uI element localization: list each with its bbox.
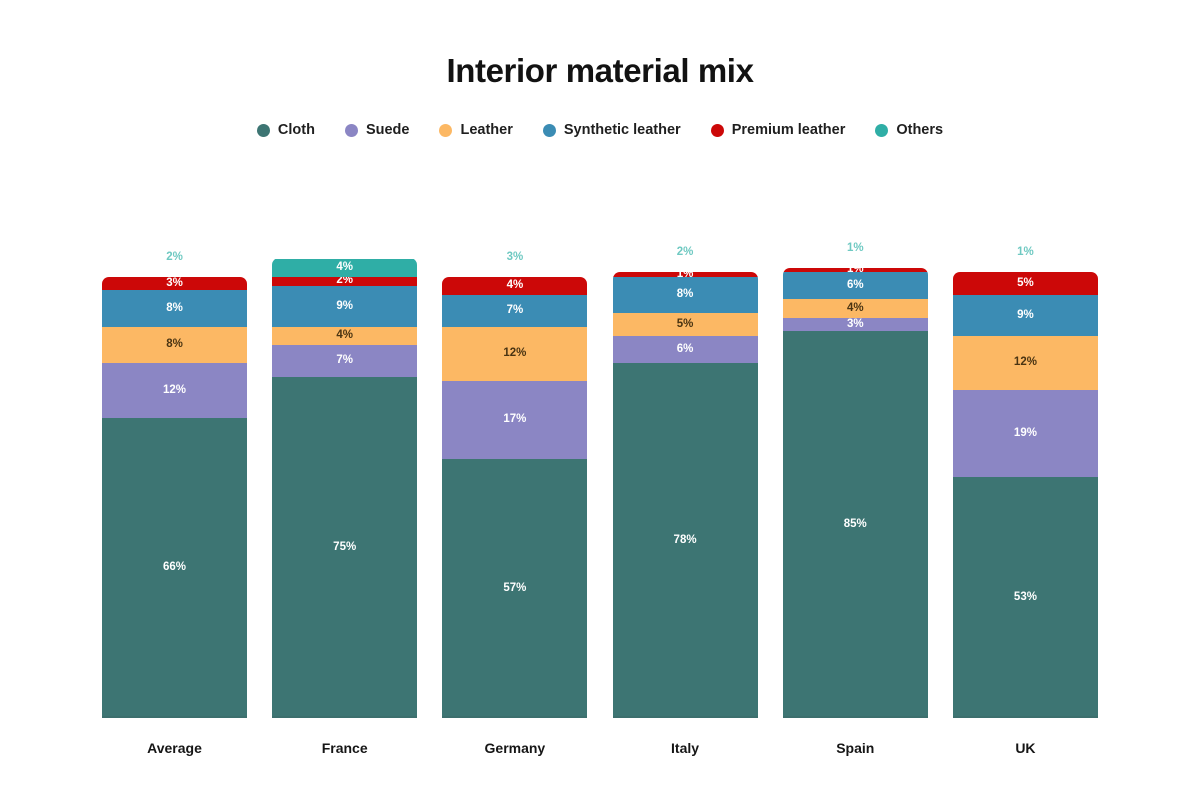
bar-segment-premium-leather[interactable]: 3% <box>102 277 247 291</box>
legend-dot-icon <box>439 124 452 137</box>
x-axis-tick-label: Germany <box>442 740 587 756</box>
stacked-bar: 5%9%12%19%53% <box>953 272 1098 718</box>
bar-segment-label: 12% <box>503 348 526 360</box>
bar-segment-suede[interactable]: 3% <box>783 318 928 332</box>
bar-segment-label: 12% <box>163 385 186 397</box>
bar-segment-cloth[interactable]: 85% <box>783 331 928 718</box>
legend-item-suede[interactable]: Suede <box>345 122 410 138</box>
bar-groups: 2%3%8%8%12%66%Average4%2%9%4%7%75%France… <box>102 152 1098 718</box>
x-axis-tick-label: Average <box>102 740 247 756</box>
bar-segment-leather[interactable]: 8% <box>102 327 247 363</box>
bar-segment-label: 1% <box>783 242 928 254</box>
bar-segment-label: 5% <box>677 319 694 331</box>
legend-item-label: Leather <box>460 122 512 138</box>
legend-item-others[interactable]: Others <box>875 122 943 138</box>
legend-item-cloth[interactable]: Cloth <box>257 122 315 138</box>
bar-segment-synthetic-leather[interactable]: 6% <box>783 272 928 299</box>
bar-segment-cloth[interactable]: 57% <box>442 459 587 718</box>
bar-segment-synthetic-leather[interactable]: 8% <box>102 290 247 326</box>
bar-segment-label: 7% <box>336 355 353 367</box>
bar-segment-label: 9% <box>336 301 353 313</box>
bar-segment-cloth[interactable]: 75% <box>272 377 417 718</box>
bar-segment-label: 2% <box>336 277 353 286</box>
bar-baseline <box>783 716 928 718</box>
legend-dot-icon <box>345 124 358 137</box>
bar-segment-cloth[interactable]: 78% <box>613 363 758 718</box>
bar-segment-premium-leather[interactable]: 2% <box>272 277 417 286</box>
bar-segment-label: 85% <box>844 519 867 531</box>
bar-segment-suede[interactable]: 19% <box>953 390 1098 476</box>
bar-segment-premium-leather[interactable]: 5% <box>953 272 1098 295</box>
legend-item-leather[interactable]: Leather <box>439 122 512 138</box>
bar-segment-leather[interactable]: 5% <box>613 313 758 336</box>
legend-item-label: Synthetic leather <box>564 122 681 138</box>
bar-segment-label: 9% <box>1017 310 1034 322</box>
bar-segment-others[interactable]: 4% <box>272 259 417 277</box>
legend-dot-icon <box>875 124 888 137</box>
bar-segment-label: 53% <box>1014 592 1037 604</box>
bar-segment-label: 66% <box>163 562 186 574</box>
bar-segment-cloth[interactable]: 53% <box>953 477 1098 718</box>
bar-segment-label: 78% <box>674 535 697 547</box>
x-axis-tick-label: Italy <box>613 740 758 756</box>
stacked-bar: 4%2%9%4%7%75% <box>272 258 417 718</box>
chart-legend: ClothSuedeLeatherSynthetic leatherPremiu… <box>0 122 1200 138</box>
bar-group-spain[interactable]: 1%1%6%4%3%85%Spain <box>783 152 928 718</box>
bar-baseline <box>613 716 758 718</box>
bar-segment-label: 7% <box>507 305 524 317</box>
stacked-bar: 4%7%12%17%57% <box>442 277 587 718</box>
bar-segment-synthetic-leather[interactable]: 9% <box>272 286 417 327</box>
bar-segment-label: 8% <box>677 289 694 301</box>
legend-item-label: Others <box>896 122 943 138</box>
bar-segment-suede[interactable]: 17% <box>442 381 587 458</box>
bar-segment-label: 5% <box>1017 278 1034 290</box>
stacked-bar: 1%6%4%3%85% <box>783 268 928 718</box>
bar-segment-label: 2% <box>102 251 247 263</box>
bar-baseline <box>953 716 1098 718</box>
x-axis-tick-label: Spain <box>783 740 928 756</box>
bar-segment-label: 8% <box>166 303 183 315</box>
bar-segment-leather[interactable]: 4% <box>783 299 928 317</box>
bar-segment-synthetic-leather[interactable]: 8% <box>613 277 758 313</box>
bar-segment-label: 6% <box>847 280 864 292</box>
legend-dot-icon <box>543 124 556 137</box>
bar-segment-suede[interactable]: 7% <box>272 345 417 377</box>
legend-dot-icon <box>257 124 270 137</box>
legend-item-synthetic-leather[interactable]: Synthetic leather <box>543 122 681 138</box>
stacked-bar: 3%8%8%12%66% <box>102 277 247 718</box>
bar-segment-leather[interactable]: 12% <box>442 327 587 382</box>
bar-segment-label: 3% <box>442 251 587 263</box>
bar-segment-label: 4% <box>847 303 864 315</box>
bar-segment-label: 4% <box>507 280 524 292</box>
legend-item-label: Suede <box>366 122 410 138</box>
bar-segment-label: 3% <box>166 278 183 290</box>
plot-area: 2%3%8%8%12%66%Average4%2%9%4%7%75%France… <box>78 138 1122 800</box>
bar-segment-label: 75% <box>333 542 356 554</box>
bar-segment-synthetic-leather[interactable]: 7% <box>442 295 587 327</box>
bar-baseline <box>442 716 587 718</box>
bar-segment-suede[interactable]: 6% <box>613 336 758 363</box>
bar-segment-synthetic-leather[interactable]: 9% <box>953 295 1098 336</box>
legend-item-label: Cloth <box>278 122 315 138</box>
bar-segment-cloth[interactable]: 66% <box>102 418 247 718</box>
bar-segment-label: 1% <box>953 246 1098 258</box>
bar-segment-premium-leather[interactable]: 4% <box>442 277 587 295</box>
bar-segment-label: 8% <box>166 339 183 351</box>
bar-group-uk[interactable]: 1%5%9%12%19%53%UK <box>953 152 1098 718</box>
chart-container: Interior material mix ClothSuedeLeatherS… <box>0 0 1200 800</box>
bar-segment-label: 17% <box>503 414 526 426</box>
bar-segment-suede[interactable]: 12% <box>102 363 247 418</box>
page-title: Interior material mix <box>0 0 1200 90</box>
legend-item-label: Premium leather <box>732 122 846 138</box>
legend-dot-icon <box>711 124 724 137</box>
legend-item-premium-leather[interactable]: Premium leather <box>711 122 846 138</box>
bar-segment-label: 4% <box>336 262 353 274</box>
bar-segment-label: 12% <box>1014 357 1037 369</box>
bar-baseline <box>272 716 417 718</box>
x-axis-tick-label: UK <box>953 740 1098 756</box>
bar-segment-label: 6% <box>677 344 694 356</box>
x-axis-tick-label: France <box>272 740 417 756</box>
stacked-bar: 1%8%5%6%78% <box>613 272 758 718</box>
bar-group-italy[interactable]: 2%1%8%5%6%78%Italy <box>613 152 758 718</box>
bar-segment-leather[interactable]: 4% <box>272 327 417 345</box>
bar-segment-leather[interactable]: 12% <box>953 336 1098 391</box>
bar-segment-label: 57% <box>503 583 526 595</box>
bar-group-germany[interactable]: 3%4%7%12%17%57%Germany <box>442 152 587 718</box>
bar-segment-label: 19% <box>1014 428 1037 440</box>
bar-segment-label: 3% <box>847 319 864 331</box>
bar-segment-label: 4% <box>336 330 353 342</box>
bar-baseline <box>102 716 247 718</box>
bar-group-average[interactable]: 2%3%8%8%12%66%Average <box>102 152 247 718</box>
bar-segment-label: 2% <box>613 246 758 258</box>
bar-group-france[interactable]: 4%2%9%4%7%75%France <box>272 152 417 718</box>
